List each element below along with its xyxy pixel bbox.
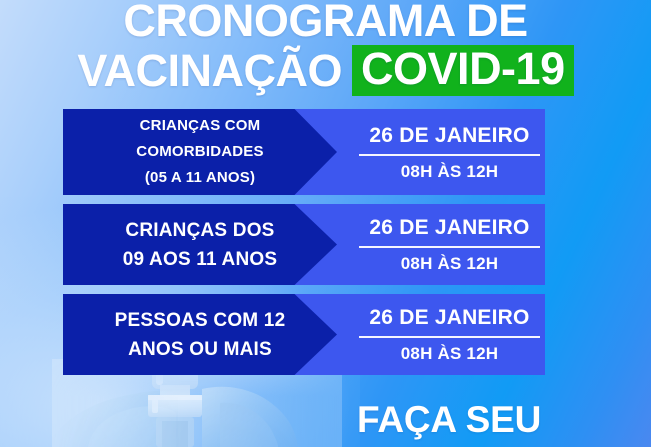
schedule-row-category-arrow: CRIANÇAS DOS 09 AOS 11 ANOS <box>63 204 337 285</box>
footer-cta-text: FAÇA SEU <box>357 398 541 442</box>
schedule-table: 26 DE JANEIRO 08H ÀS 12H CRIANÇAS COM CO… <box>63 109 545 384</box>
schedule-category-line: 09 AOS 11 ANOS <box>123 245 278 274</box>
schedule-row-category-arrow: PESSOAS COM 12 ANOS OU MAIS <box>63 294 337 375</box>
schedule-category-line: CRIANÇAS DOS <box>125 216 274 245</box>
title-highlight-covid19: COVID-19 <box>352 45 574 96</box>
title-line-2: VACINAÇÃO COVID-19 <box>0 45 651 96</box>
schedule-divider <box>359 336 540 338</box>
title-word-vacinacao: VACINAÇÃO <box>77 46 352 95</box>
schedule-category-line: (05 A 11 ANOS) <box>145 165 255 191</box>
schedule-date: 26 DE JANEIRO <box>305 123 529 148</box>
schedule-time: 08H ÀS 12H <box>337 162 498 182</box>
schedule-row: 26 DE JANEIRO 08H ÀS 12H CRIANÇAS COM CO… <box>63 109 545 195</box>
schedule-time: 08H ÀS 12H <box>337 344 498 364</box>
schedule-row: 26 DE JANEIRO 08H ÀS 12H CRIANÇAS DOS 09… <box>63 204 545 285</box>
schedule-category-line: PESSOAS COM 12 <box>115 306 286 335</box>
schedule-divider <box>359 154 540 156</box>
poster-title: CRONOGRAMA DE VACINAÇÃO COVID-19 <box>0 0 651 96</box>
title-line-1: CRONOGRAMA DE <box>0 0 651 45</box>
schedule-date: 26 DE JANEIRO <box>305 215 529 240</box>
schedule-category-line: CRIANÇAS COM <box>140 113 261 139</box>
schedule-time: 08H ÀS 12H <box>337 254 498 274</box>
schedule-category-line: ANOS OU MAIS <box>128 335 272 364</box>
vaccination-schedule-poster: CRONOGRAMA DE VACINAÇÃO COVID-19 26 DE J… <box>0 0 651 447</box>
schedule-row: 26 DE JANEIRO 08H ÀS 12H PESSOAS COM 12 … <box>63 294 545 375</box>
schedule-row-category-arrow: CRIANÇAS COM COMORBIDADES (05 A 11 ANOS) <box>63 109 337 195</box>
schedule-category-line: COMORBIDADES <box>136 139 263 165</box>
schedule-date: 26 DE JANEIRO <box>305 305 529 330</box>
schedule-divider <box>359 246 540 248</box>
